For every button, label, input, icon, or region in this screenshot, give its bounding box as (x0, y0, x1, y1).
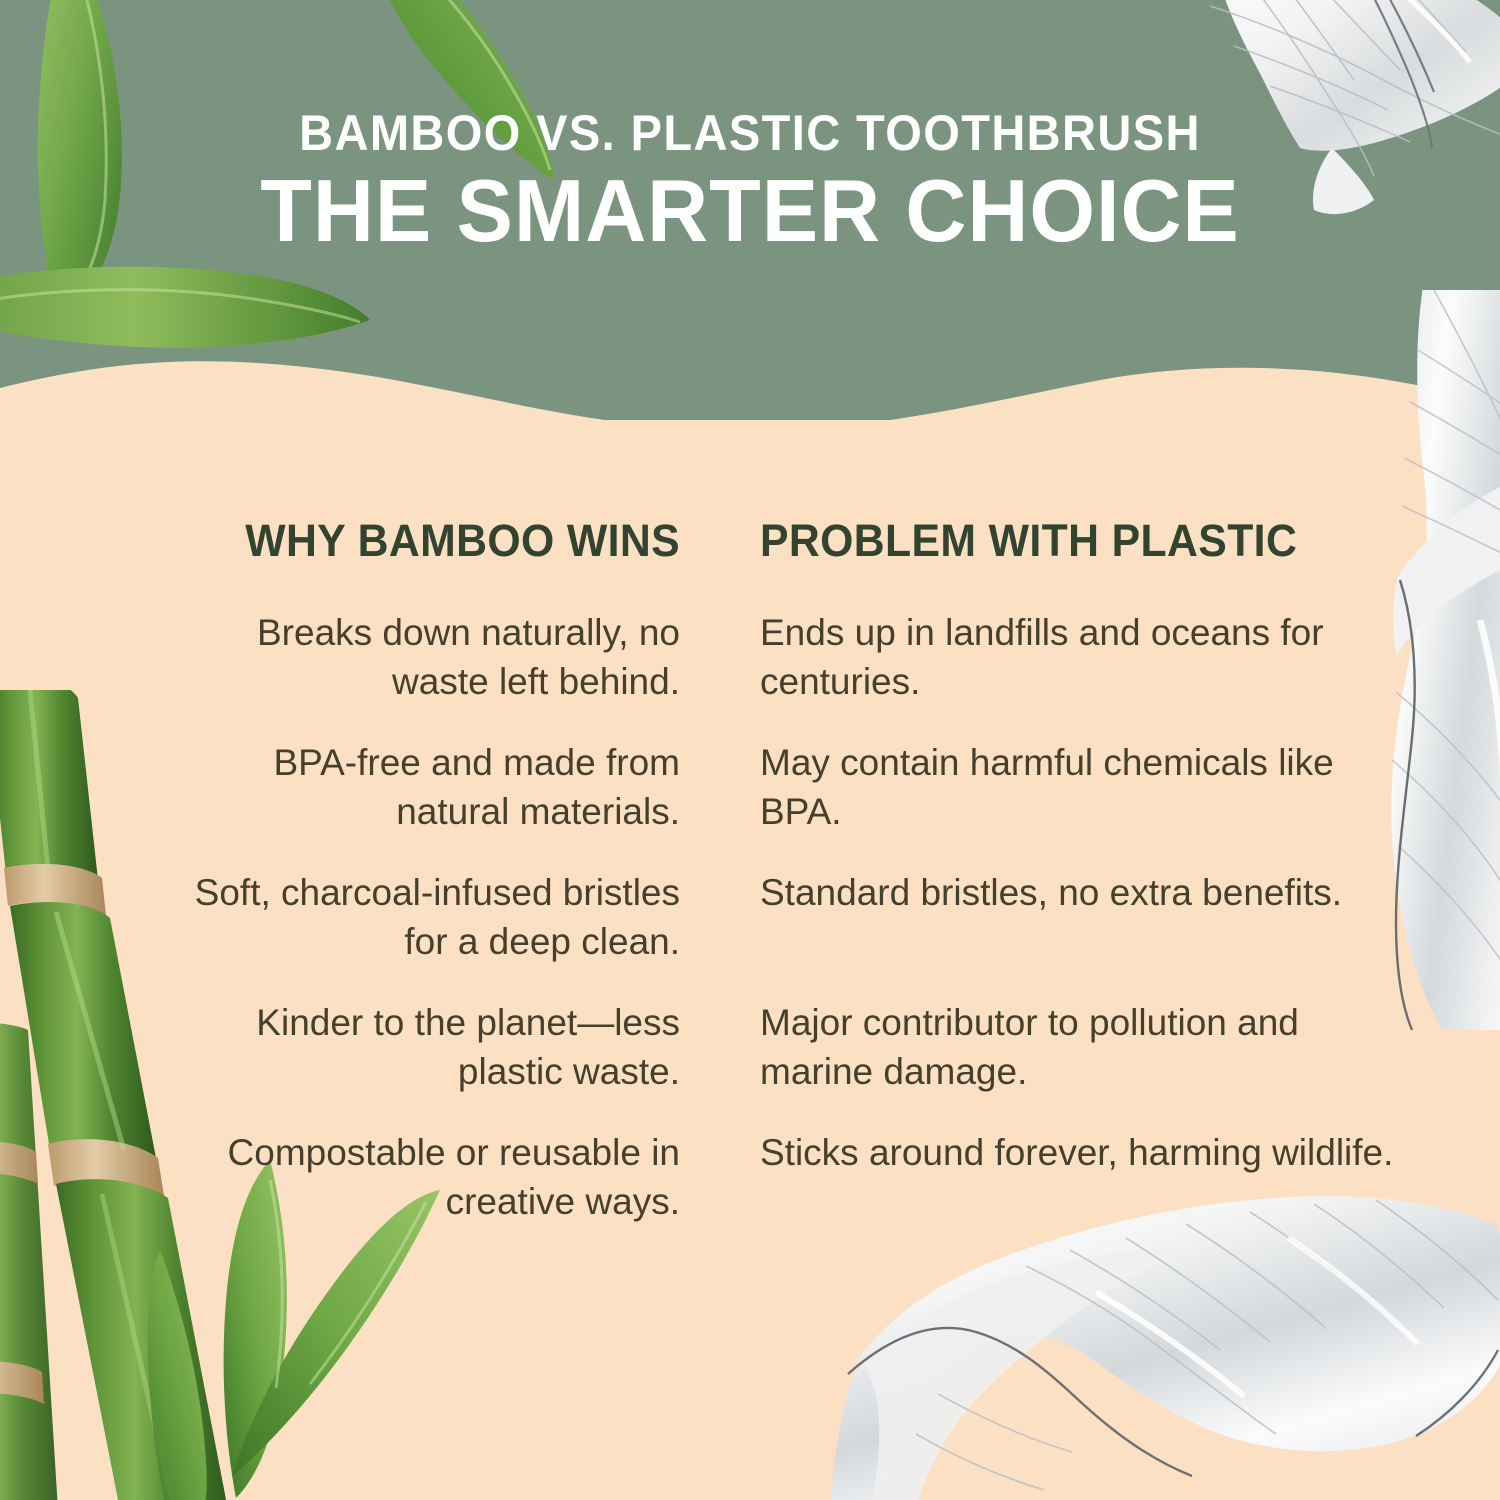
column-plastic-list: Ends up in landfills and oceans for cent… (760, 609, 1420, 1259)
column-plastic: PROBLEM WITH PLASTIC Ends up in landfill… (760, 518, 1420, 1259)
comparison-section: WHY BAMBOO WINS Breaks down naturally, n… (120, 518, 1420, 1259)
column-bamboo-heading: WHY BAMBOO WINS (148, 518, 680, 563)
headline-block: BAMBOO VS. PLASTIC TOOTHBRUSH THE SMARTE… (0, 108, 1500, 256)
column-plastic-heading: PROBLEM WITH PLASTIC (760, 518, 1387, 563)
list-item: BPA-free and made from natural materials… (120, 739, 680, 869)
list-item: Major contributor to pollution and marin… (760, 999, 1420, 1129)
list-item: Ends up in landfills and oceans for cent… (760, 609, 1420, 739)
kicker-text: BAMBOO VS. PLASTIC TOOTHBRUSH (45, 108, 1455, 158)
list-item: Kinder to the planet—less plastic waste. (120, 999, 680, 1129)
list-item: Standard bristles, no extra benefits. (760, 869, 1420, 999)
column-bamboo: WHY BAMBOO WINS Breaks down naturally, n… (120, 518, 680, 1259)
page-title: THE SMARTER CHOICE (30, 166, 1470, 256)
list-item: Sticks around forever, harming wildlife. (760, 1129, 1420, 1259)
infographic-poster: BAMBOO VS. PLASTIC TOOTHBRUSH THE SMARTE… (0, 0, 1500, 1500)
list-item: Breaks down naturally, no waste left beh… (120, 609, 680, 739)
list-item: May contain harmful chemicals like BPA. (760, 739, 1420, 869)
column-bamboo-list: Breaks down naturally, no waste left beh… (120, 609, 680, 1259)
list-item: Compostable or reusable in creative ways… (120, 1129, 680, 1259)
list-item: Soft, charcoal-infused bristles for a de… (120, 869, 680, 999)
